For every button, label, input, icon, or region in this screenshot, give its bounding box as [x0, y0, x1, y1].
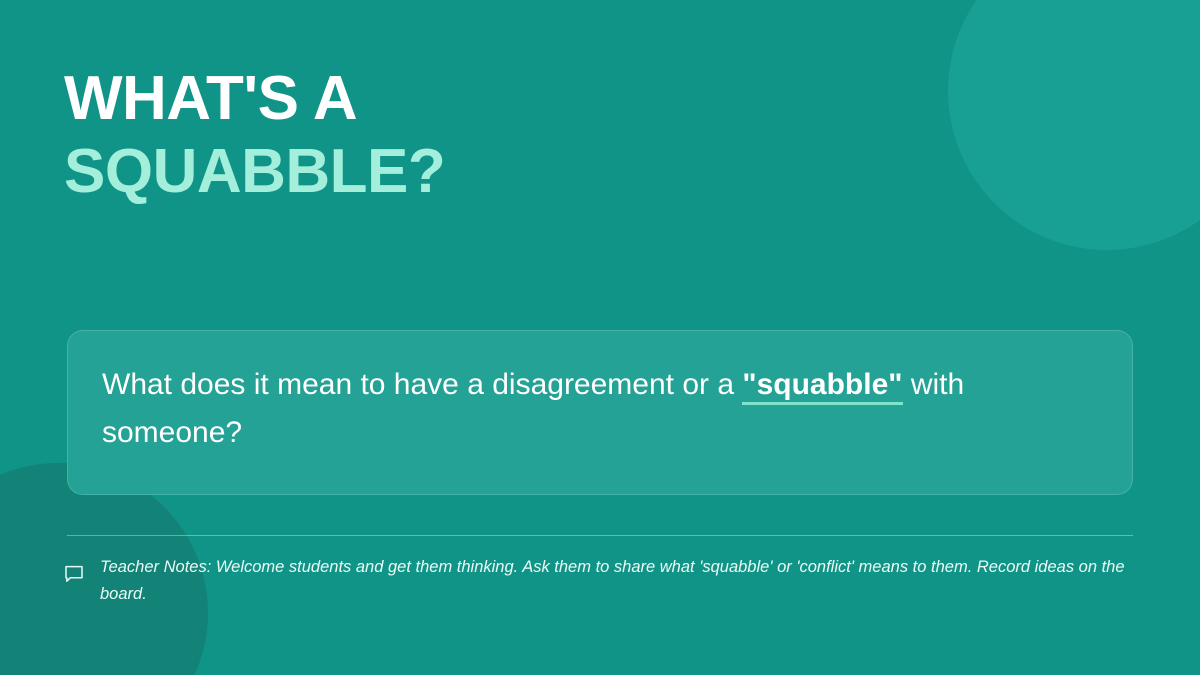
slide-canvas: WHAT'S A SQUABBLE? What does it mean to … [0, 0, 1200, 675]
decorative-circle-top-right [948, 0, 1200, 250]
question-highlight-term: "squabble" [742, 368, 902, 405]
speech-bubble-icon [64, 564, 84, 584]
section-divider [67, 535, 1133, 536]
title-line-accent: SQUABBLE? [64, 135, 445, 208]
question-text-before: What does it mean to have a disagreement… [102, 368, 742, 401]
question-card: What does it mean to have a disagreement… [67, 330, 1133, 495]
title-line-primary: WHAT'S A [64, 62, 445, 135]
page-title: WHAT'S A SQUABBLE? [64, 62, 445, 208]
teacher-notes-text: Teacher Notes: Welcome students and get … [100, 554, 1140, 608]
teacher-notes: Teacher Notes: Welcome students and get … [64, 554, 1144, 608]
question-text: What does it mean to have a disagreement… [102, 361, 1098, 457]
